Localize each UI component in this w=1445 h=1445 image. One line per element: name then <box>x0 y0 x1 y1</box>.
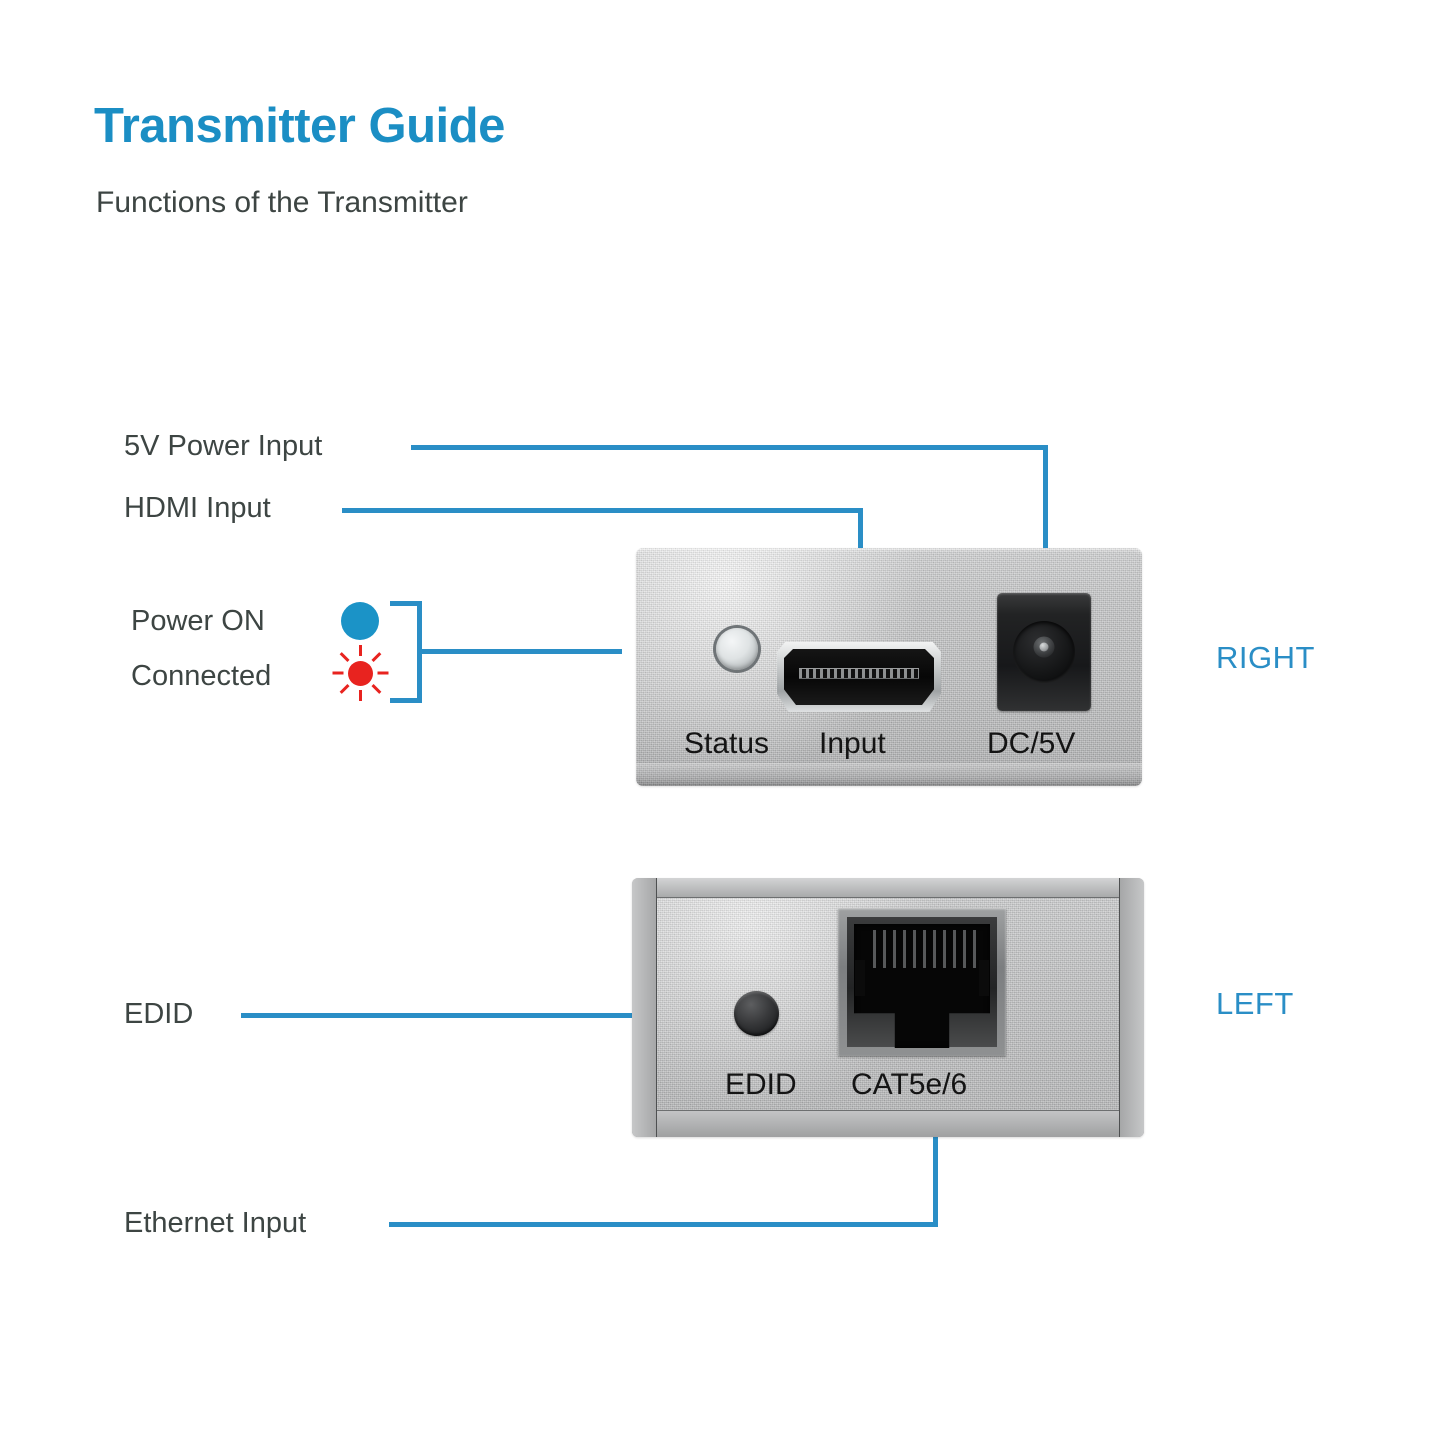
callout-label-hdmi-input: HDMI Input <box>124 494 271 523</box>
power-on-led-icon <box>341 602 379 640</box>
callout-label-edid: EDID <box>124 1000 193 1029</box>
dc-jack-center-pin <box>1040 643 1049 652</box>
panel-label-cat5e6: CAT5e/6 <box>851 1068 967 1102</box>
leader-bracket-bottom <box>390 698 422 703</box>
rj45-latch-left <box>855 960 865 996</box>
callout-label-power-on: Power ON <box>131 607 265 636</box>
led-core <box>348 661 373 686</box>
panel-label-status: Status <box>684 727 769 761</box>
transmitter-guide-diagram: Transmitter Guide Functions of the Trans… <box>0 0 1445 1445</box>
leader-line-edid <box>241 1013 633 1018</box>
leader-line-hdmi-input-horizontal <box>342 508 863 513</box>
callout-label-power-input: 5V Power Input <box>124 432 322 461</box>
edid-push-button[interactable] <box>734 991 779 1036</box>
panel-label-edid: EDID <box>725 1068 797 1102</box>
rj45-latch-right <box>979 960 989 996</box>
side-label-left: LEFT <box>1216 986 1294 1022</box>
hdmi-input-port[interactable] <box>777 642 941 712</box>
panel-bezel-top <box>632 878 1144 898</box>
callout-label-connected: Connected <box>131 662 271 691</box>
leader-line-ethernet-vertical <box>933 1136 938 1227</box>
callout-label-ethernet-input: Ethernet Input <box>124 1209 306 1238</box>
connected-blinking-led-icon <box>332 645 388 701</box>
cat5e6-rj45-jack[interactable] <box>838 908 1006 1056</box>
hdmi-contact-strip <box>799 668 919 679</box>
panel-bezel-right <box>1119 878 1144 1137</box>
page-subtitle: Functions of the Transmitter <box>96 186 468 220</box>
leader-line-ethernet-horizontal <box>389 1222 938 1227</box>
panel-bezel-bottom <box>632 1110 1144 1137</box>
side-label-right: RIGHT <box>1216 640 1315 676</box>
leader-bracket-stem <box>417 649 622 654</box>
panel-label-dc5v: DC/5V <box>987 727 1075 761</box>
page-title: Transmitter Guide <box>94 98 505 154</box>
panel-bevel <box>636 763 1142 786</box>
dc-power-jack[interactable] <box>997 593 1091 711</box>
leader-line-power-input-horizontal <box>411 445 1048 450</box>
status-led-indicator <box>716 628 758 670</box>
panel-bezel-left <box>632 878 657 1137</box>
rj45-contact-pins <box>866 930 978 968</box>
panel-label-input: Input <box>819 727 886 761</box>
